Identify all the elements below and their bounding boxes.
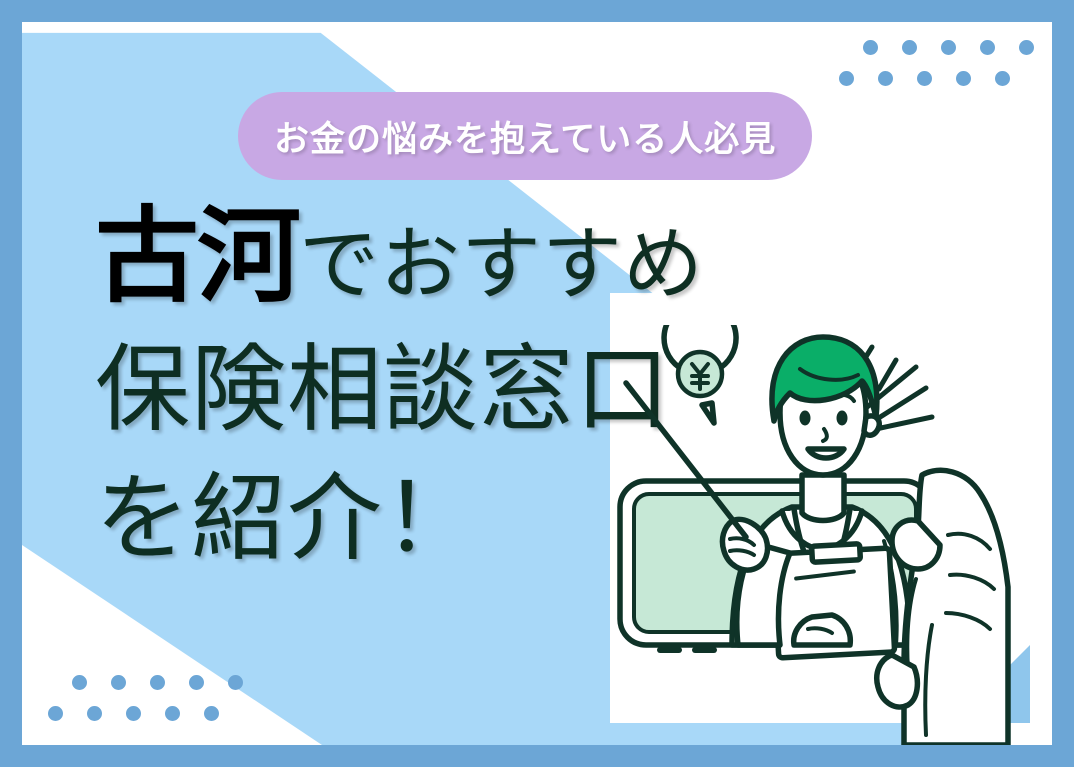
dot-icon <box>87 706 102 721</box>
consultant-in-smartphone-illustration: .ln { fill:none; stroke:#0F3328; stroke-… <box>604 325 1052 745</box>
headline-place-name: 古河 <box>95 199 299 315</box>
decorative-dots-top-right <box>839 40 1034 86</box>
dot-icon <box>917 71 932 86</box>
yen-speech-bubble-icon <box>664 325 736 423</box>
dot-icon <box>878 71 893 86</box>
dot-icon <box>902 40 917 55</box>
badge-label: お金の悩みを抱えている人必見 <box>274 111 776 162</box>
dot-icon <box>189 675 204 690</box>
eyecatch-badge: お金の悩みを抱えている人必見 <box>238 92 812 180</box>
dot-row <box>48 706 243 721</box>
dot-icon <box>956 71 971 86</box>
dot-icon <box>165 706 180 721</box>
dot-icon <box>941 40 956 55</box>
dot-icon <box>111 675 126 690</box>
eye-right <box>837 411 848 426</box>
dot-icon <box>48 706 63 721</box>
decorative-dots-bottom-left <box>48 675 243 721</box>
dot-row <box>72 675 243 690</box>
dot-icon <box>995 71 1010 86</box>
dot-row <box>839 71 1034 86</box>
dot-icon <box>228 675 243 690</box>
eye-left <box>800 411 811 426</box>
dot-icon <box>1019 40 1034 55</box>
dot-icon <box>126 706 141 721</box>
dot-icon <box>204 706 219 721</box>
dot-icon <box>150 675 165 690</box>
headline-line-1: 古河でおすすめ <box>95 205 855 309</box>
banner-root: お金の悩みを抱えている人必見 古河でおすすめ 保険相談窓口 を紹介！ .ln {… <box>0 0 1074 767</box>
dot-icon <box>839 71 854 86</box>
dot-icon <box>72 675 87 690</box>
dot-row <box>863 40 1034 55</box>
dot-icon <box>980 40 995 55</box>
dot-icon <box>863 40 878 55</box>
hand-holding-pointer <box>722 519 767 570</box>
headline-line-1-suffix: でおすすめ <box>299 220 704 309</box>
